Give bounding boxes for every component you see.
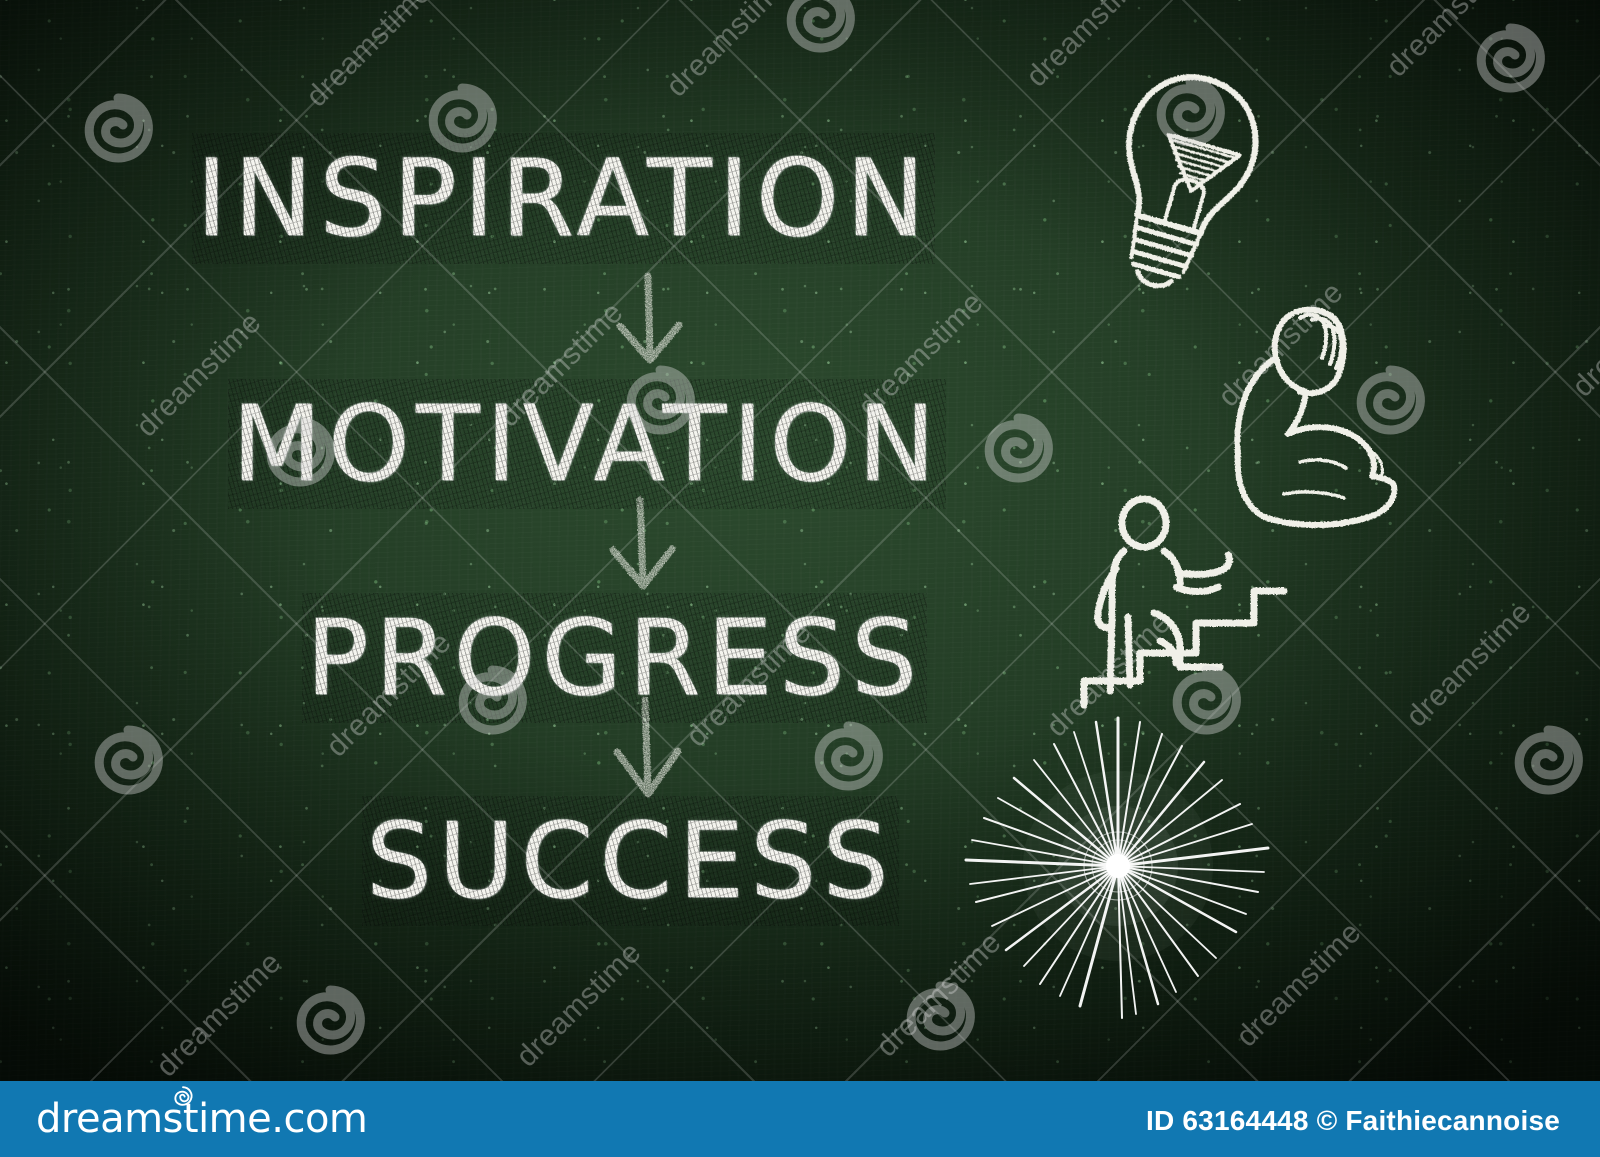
person-climbing-stairs-icon xyxy=(1084,499,1284,705)
starburst-icon xyxy=(966,718,1268,1018)
chalkboard-background: INSPIRATION MOTIVATION PROGRESS SUCCESS xyxy=(0,0,1600,1081)
dreamstime-logo[interactable]: dreamstime.com xyxy=(36,1099,367,1139)
image-id-credit: ID 63164448 © Faithiecannoise xyxy=(1146,1105,1560,1137)
dreamstime-wordmark: dreamstime.com xyxy=(36,1099,367,1139)
dreamstime-spiral-icon xyxy=(172,1085,194,1107)
flow-step-label-motivation: MOTIVATION xyxy=(232,383,942,505)
stock-footer-bar: dreamstime.com ID 63164448 © Faithiecann… xyxy=(0,1081,1600,1157)
lightbulb-icon xyxy=(1091,63,1271,302)
flow-step-label-progress: PROGRESS xyxy=(306,597,923,719)
stock-photo-canvas: INSPIRATION MOTIVATION PROGRESS SUCCESS xyxy=(0,0,1600,1157)
down-arrow-1 xyxy=(620,276,679,360)
down-arrow-2 xyxy=(613,500,672,586)
flow-step-label-success: SUCCESS xyxy=(366,800,895,922)
flow-step-label-inspiration: INSPIRATION xyxy=(196,137,931,260)
flexed-bicep-icon xyxy=(1237,310,1394,525)
